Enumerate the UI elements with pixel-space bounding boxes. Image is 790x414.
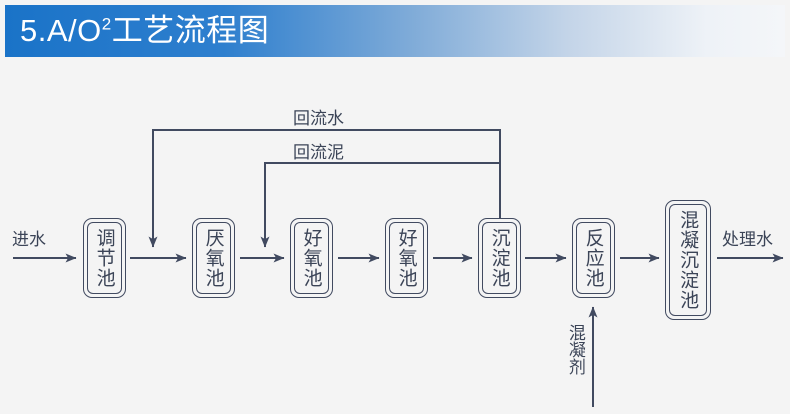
label-outlet: 处理水 bbox=[722, 225, 773, 250]
section-header-banner: 5.A/O2工艺流程图 bbox=[5, 5, 785, 57]
label-inlet: 进水 bbox=[12, 225, 46, 250]
node-chendianchi[interactable]: 沉淀池 bbox=[478, 218, 521, 298]
label-return-water: 回流水 bbox=[293, 104, 344, 129]
node-yanyangchi[interactable]: 厌氧池 bbox=[192, 218, 235, 298]
node-fanyingchi-inner: 反应池 bbox=[576, 222, 611, 294]
node-hunningchendianchi-inner: 混凝沉淀池 bbox=[669, 204, 707, 316]
node-chendianchi-inner: 沉淀池 bbox=[482, 222, 517, 294]
page-title-superscript: 2 bbox=[102, 15, 112, 34]
node-hunningchendianchi[interactable]: 混凝沉淀池 bbox=[665, 200, 711, 320]
node-fanyingchi-label: 反应池 bbox=[583, 228, 603, 288]
node-haoyangchi-2-inner: 好氧池 bbox=[389, 222, 424, 294]
label-coagulant: 混凝剂 bbox=[565, 324, 583, 375]
flow-diagram-page: 5.A/O2工艺流程图 bbox=[0, 0, 790, 414]
page-title: 5.A/O2工艺流程图 bbox=[20, 10, 269, 52]
node-haoyangchi-2-label: 好氧池 bbox=[396, 228, 416, 288]
label-return-sludge: 回流泥 bbox=[293, 138, 344, 163]
node-tiaojiechi[interactable]: 调节池 bbox=[83, 218, 126, 298]
node-haoyangchi-2[interactable]: 好氧池 bbox=[385, 218, 428, 298]
page-title-main: 5.A/O bbox=[20, 13, 102, 48]
node-chendianchi-label: 沉淀池 bbox=[489, 228, 509, 288]
node-tiaojiechi-inner: 调节池 bbox=[87, 222, 122, 294]
node-haoyangchi-1[interactable]: 好氧池 bbox=[290, 218, 333, 298]
page-title-rest: 工艺流程图 bbox=[112, 13, 270, 48]
process-flow-diagram: 调节池 厌氧池 好氧池 好氧池 沉淀池 反应池 bbox=[0, 57, 790, 414]
node-yanyangchi-label: 厌氧池 bbox=[203, 228, 223, 288]
node-hunningchendianchi-label: 混凝沉淀池 bbox=[678, 210, 698, 310]
node-fanyingchi[interactable]: 反应池 bbox=[572, 218, 615, 298]
node-yanyangchi-inner: 厌氧池 bbox=[196, 222, 231, 294]
node-haoyangchi-1-label: 好氧池 bbox=[301, 228, 321, 288]
node-tiaojiechi-label: 调节池 bbox=[94, 228, 114, 288]
node-haoyangchi-1-inner: 好氧池 bbox=[294, 222, 329, 294]
